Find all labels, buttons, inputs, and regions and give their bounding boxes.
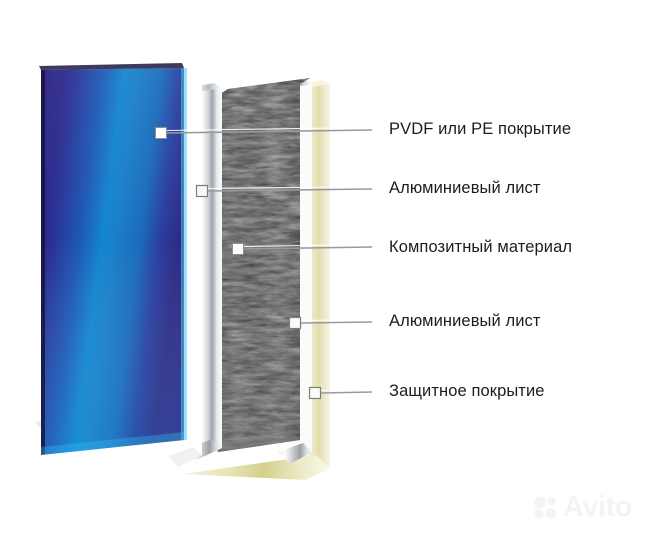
callout-label-aluminium-back: Алюминиевый лист (389, 312, 541, 331)
leader-line (321, 392, 372, 393)
layer-pvdf-coating (35, 63, 187, 455)
callout-label-aluminium-front: Алюминиевый лист (389, 179, 541, 198)
avito-logo-icon (533, 495, 559, 521)
callout-label-pvdf: PVDF или PE покрытие (389, 120, 571, 139)
leader-line (301, 322, 372, 323)
callout-marker (156, 128, 167, 139)
panel-cross-section-illustration (0, 0, 646, 540)
callout-marker (290, 318, 301, 329)
callout-marker (233, 244, 244, 255)
callout-label-protective: Защитное покрытие (389, 382, 545, 401)
avito-watermark: Avito (533, 493, 632, 522)
callout-marker (197, 186, 208, 197)
callout-label-composite: Композитный материал (389, 238, 572, 257)
callout-marker (310, 388, 321, 399)
avito-watermark-text: Avito (563, 493, 632, 522)
diagram-canvas: PVDF или PE покрытие Алюминиевый лист Ко… (0, 0, 646, 540)
callout-protective[interactable] (310, 388, 373, 399)
